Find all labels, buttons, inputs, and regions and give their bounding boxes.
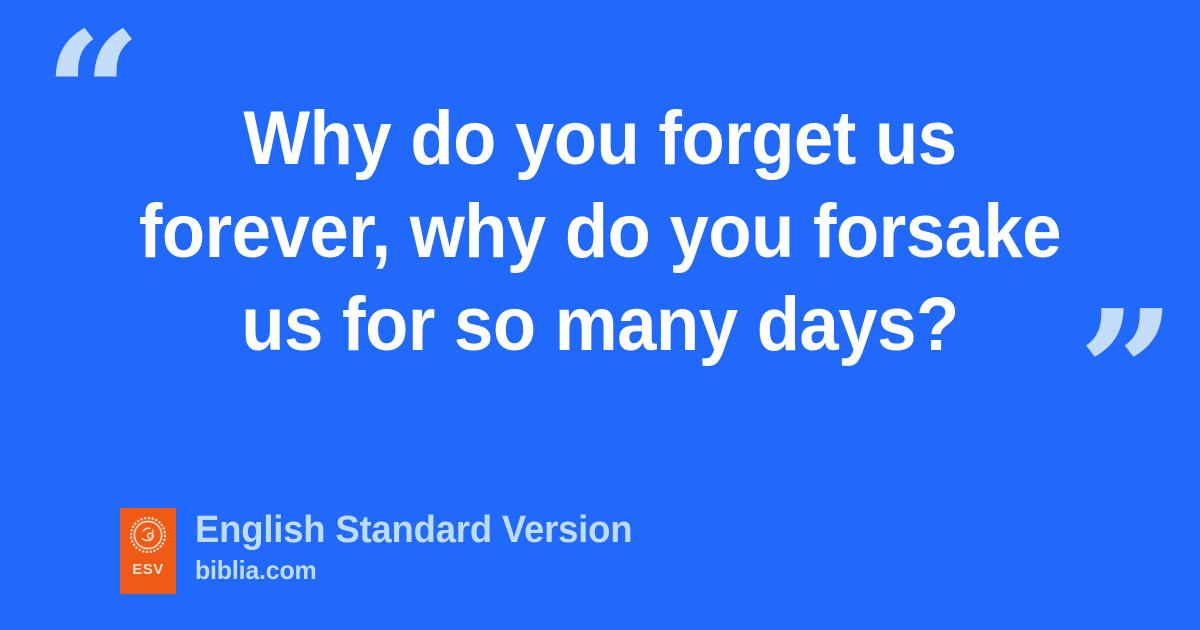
quote-line: forever, why do you forsake [107, 185, 1093, 278]
esv-logo-abbrev: ESV [132, 562, 164, 577]
bible-version-name: English Standard Version [195, 508, 632, 552]
verse-share-card: “ Why do you forget us forever, why do y… [0, 0, 1200, 630]
esv-logo-tile: ESV [120, 508, 176, 594]
esv-seal-icon [130, 517, 166, 553]
close-quote-icon: ” [1078, 288, 1172, 458]
site-url-label: biblia.com [195, 555, 632, 585]
quote-text-block: Why do you forget us forever, why do you… [70, 92, 1130, 371]
branding-block: ESV English Standard Version biblia.com [120, 508, 651, 594]
quote-line: us for so many days? [107, 278, 1093, 371]
brand-text-group: English Standard Version biblia.com [195, 508, 651, 585]
quote-line: Why do you forget us [107, 92, 1093, 185]
